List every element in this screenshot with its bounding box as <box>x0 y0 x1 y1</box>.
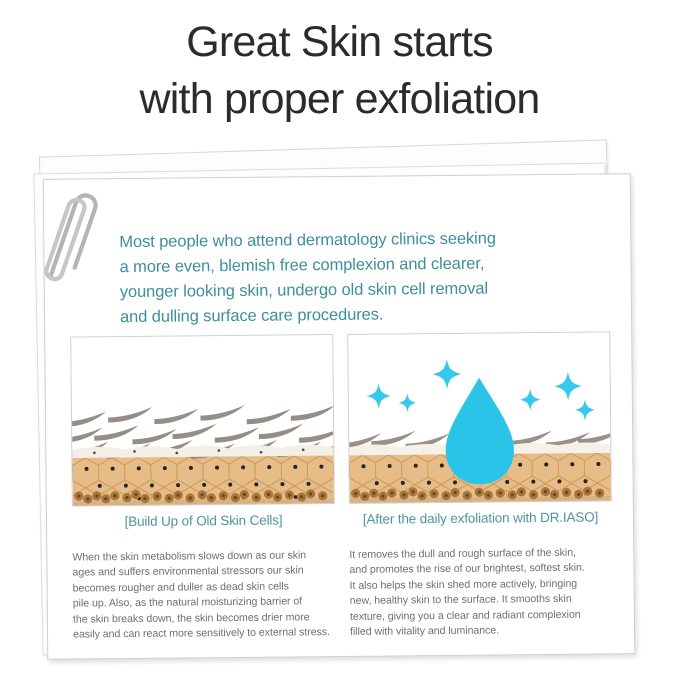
body-paragraphs: When the skin metabolism slows down as o… <box>72 545 613 643</box>
illustration-panels <box>70 331 612 506</box>
caption-after: [After the daily exfoliation with DR.IAS… <box>349 509 612 534</box>
intro-paragraph: Most people who attend dermatology clini… <box>119 226 590 331</box>
body-after: It removes the dull and rough surface of… <box>349 545 613 640</box>
body-after-line-3: It also helps the skin shed more activel… <box>350 576 613 594</box>
body-after-line-6: filled with vitality and luminance. <box>350 622 613 640</box>
body-before-line-2: ages and suffers environmental stressors… <box>72 563 335 581</box>
panel-after <box>347 331 612 504</box>
body-before: When the skin metabolism slows down as o… <box>72 548 336 643</box>
skin-cross-section-after-icon <box>348 332 611 504</box>
panel-captions: [Build Up of Old Skin Cells] [After the … <box>72 509 612 536</box>
paper-stack: Most people who attend dermatology clini… <box>0 130 679 682</box>
intro-line-4: and dulling surface care procedures. <box>120 301 590 331</box>
panel-before <box>70 334 335 507</box>
caption-before: [Build Up of Old Skin Cells] <box>72 512 335 537</box>
body-after-line-5: texture, giving you a clear and radiant … <box>350 607 613 625</box>
skin-cross-section-before-icon <box>71 335 334 507</box>
page-title-line-2: with proper exfoliation <box>0 71 679 128</box>
page-title-line-1: Great Skin starts <box>0 14 679 71</box>
body-before-line-6: easily and can react more sensitively to… <box>73 625 336 643</box>
card-content: Most people who attend dermatology clini… <box>43 173 634 658</box>
page-title: Great Skin starts with proper exfoliatio… <box>0 14 679 128</box>
